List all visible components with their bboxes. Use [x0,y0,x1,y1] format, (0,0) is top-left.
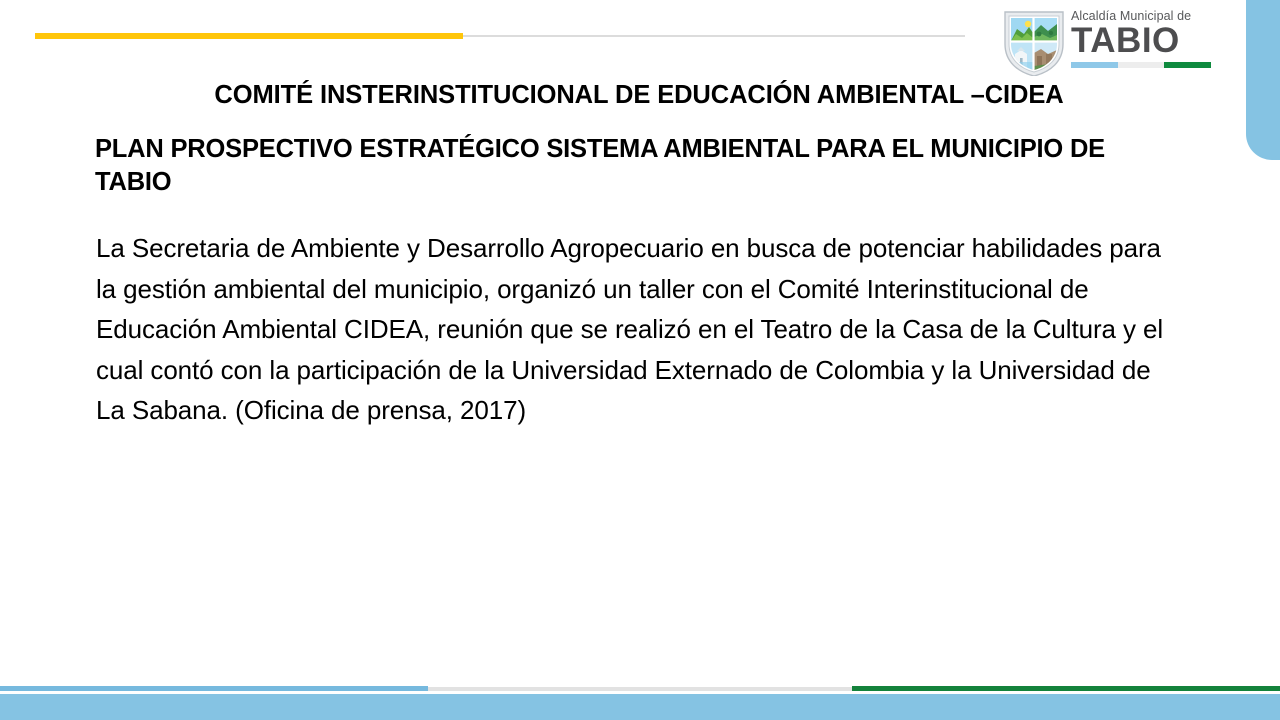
logo-underline-green [1164,62,1211,68]
logo-underline-blue [1071,62,1118,68]
logo-underline-gray [1118,62,1165,68]
logo-wordmark: Alcaldía Municipal de TABIO [1071,8,1213,68]
slide-subtitle: PLAN PROSPECTIVO ESTRATÉGICO SISTEMA AMB… [95,133,1155,199]
footer-blue-band [0,694,1280,720]
bottom-accent-rule-green [852,686,1280,691]
slide-body-paragraph: La Secretaria de Ambiente y Desarrollo A… [96,228,1181,431]
slide-canvas: Alcaldía Municipal de TABIO COMITÉ INSTE… [0,0,1280,720]
bottom-accent-rule-gray [428,687,852,691]
right-side-blue-band [1246,0,1280,160]
top-accent-rule-gray [463,35,965,37]
municipality-logo: Alcaldía Municipal de TABIO [1003,8,1213,80]
top-accent-rule-yellow [35,33,463,39]
slide-title: COMITÉ INSTERINSTITUCIONAL DE EDUCACIÓN … [94,80,1184,110]
coat-of-arms-shield-icon [1003,10,1065,76]
bottom-accent-rule-blue [0,686,428,691]
logo-underline-bars [1071,62,1211,68]
logo-line-tabio: TABIO [1071,23,1213,58]
